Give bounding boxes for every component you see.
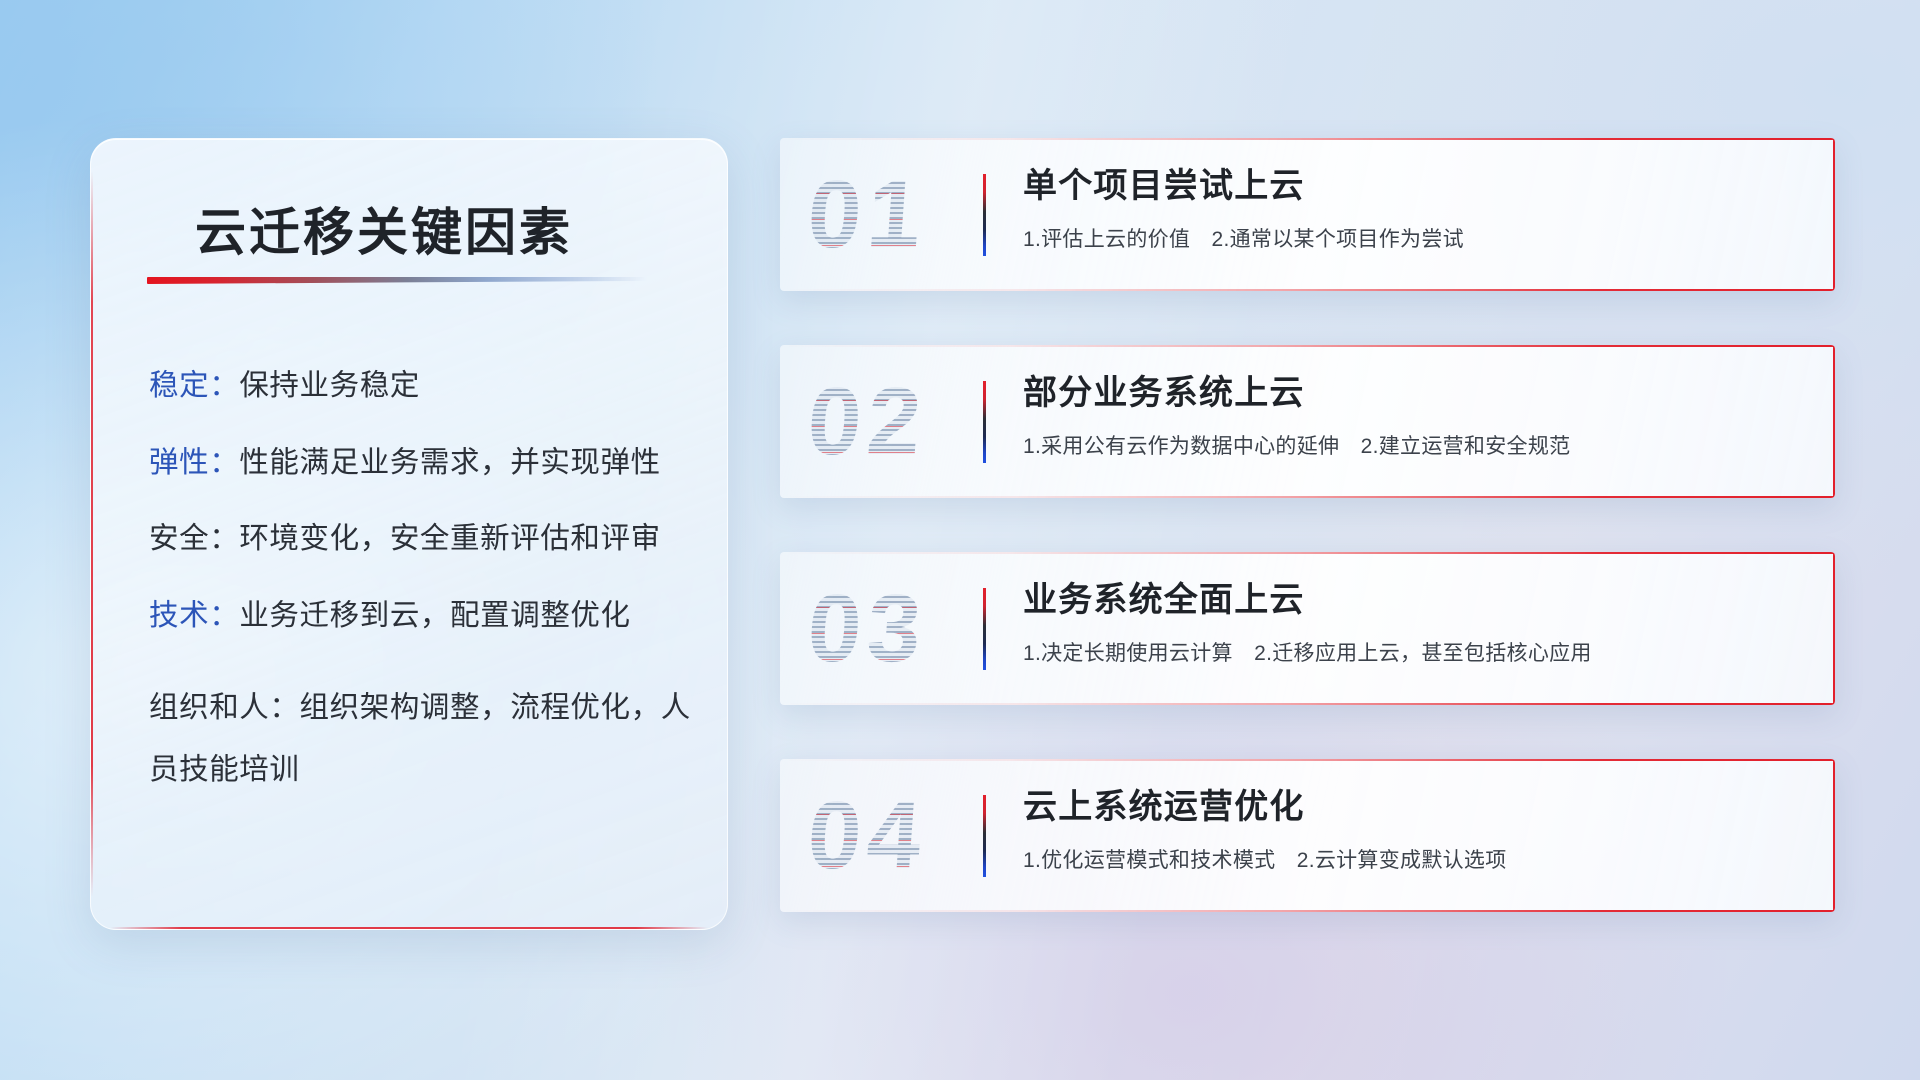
key-factors-list: 稳定：保持业务稳定 弹性：性能满足业务需求，并实现弹性 安全：环境变化，安全重新… xyxy=(149,371,699,848)
card-top-edge xyxy=(780,552,1835,554)
step-text-block: 部分业务系统上云 1.采用公有云作为数据中心的延伸 2.建立运营和安全规范 xyxy=(1023,373,1811,460)
card-right-edge xyxy=(1833,552,1835,705)
step-divider-bar xyxy=(983,381,986,463)
step-card[interactable]: 04 04 04 云上系统运营优化 1.优化运营模式和技术模式 2.云计算变成默… xyxy=(780,759,1835,912)
card-right-edge xyxy=(1833,345,1835,498)
step-subtitle: 1.采用公有云作为数据中心的延伸 2.建立运营和安全规范 xyxy=(1023,430,1811,460)
step-number-red-overlay: 02 xyxy=(805,374,930,470)
factor-label: 稳定： xyxy=(149,369,239,402)
step-text-block: 云上系统运营优化 1.优化运营模式和技术模式 2.云计算变成默认选项 xyxy=(1023,787,1811,874)
factor-label: 弹性： xyxy=(149,446,239,479)
title-underline-gradient xyxy=(147,277,647,284)
step-subtitle: 1.决定长期使用云计算 2.迁移应用上云，甚至包括核心应用 xyxy=(1023,637,1811,667)
step-title: 单个项目尝试上云 xyxy=(1023,166,1811,206)
factor-value: 性能满足业务需求，并实现弹性 xyxy=(239,446,660,479)
card-top-edge xyxy=(780,138,1835,140)
card-bottom-edge xyxy=(780,496,1835,498)
card-top-edge xyxy=(780,759,1835,761)
card-right-edge xyxy=(1833,759,1835,912)
migration-steps-list: 01 01 01 单个项目尝试上云 1.评估上云的价值 2.通常以某个项目作为尝… xyxy=(780,138,1835,912)
card-top-edge xyxy=(780,345,1835,347)
step-card[interactable]: 01 01 01 单个项目尝试上云 1.评估上云的价值 2.通常以某个项目作为尝… xyxy=(780,138,1835,291)
list-item: 稳定：保持业务稳定 xyxy=(149,371,699,401)
card-bottom-edge xyxy=(780,703,1835,705)
card-bottom-accent-bar xyxy=(110,927,708,929)
factor-label: 技术： xyxy=(149,599,239,632)
step-subtitle: 1.评估上云的价值 2.通常以某个项目作为尝试 xyxy=(1023,223,1811,253)
card-bottom-edge xyxy=(780,289,1835,291)
step-divider-bar xyxy=(983,588,986,670)
step-divider-bar xyxy=(983,795,986,877)
step-divider-bar xyxy=(983,174,986,256)
list-item: 组织和人：组织架构调整，流程优化，人员技能培训 xyxy=(149,677,699,801)
list-item: 弹性：性能满足业务需求，并实现弹性 xyxy=(149,448,699,478)
step-number-red-overlay: 04 xyxy=(805,788,930,884)
card-right-edge xyxy=(1833,138,1835,291)
step-subtitle: 1.优化运营模式和技术模式 2.云计算变成默认选项 xyxy=(1023,844,1811,874)
card-bottom-edge xyxy=(780,910,1835,912)
step-title: 业务系统全面上云 xyxy=(1023,580,1811,620)
step-title: 云上系统运营优化 xyxy=(1023,787,1811,827)
step-card[interactable]: 03 03 03 业务系统全面上云 1.决定长期使用云计算 2.迁移应用上云，甚… xyxy=(780,552,1835,705)
step-number-red-overlay: 03 xyxy=(805,581,930,677)
factor-label: 组织和人： xyxy=(149,691,300,724)
step-number-red-overlay: 01 xyxy=(805,167,930,263)
factor-value: 业务迁移到云，配置调整优化 xyxy=(239,599,630,632)
list-item: 技术：业务迁移到云，配置调整优化 xyxy=(149,601,699,631)
step-text-block: 单个项目尝试上云 1.评估上云的价值 2.通常以某个项目作为尝试 xyxy=(1023,166,1811,253)
factor-value: 环境变化，安全重新评估和评审 xyxy=(239,522,660,555)
list-item: 安全：环境变化，安全重新评估和评审 xyxy=(149,524,699,554)
key-factors-card: 云迁移关键因素 稳定：保持业务稳定 弹性：性能满足业务需求，并实现弹性 安全：环… xyxy=(90,138,728,930)
factor-value: 保持业务稳定 xyxy=(239,369,420,402)
card-left-accent-bar xyxy=(91,171,93,898)
page-title: 云迁移关键因素 xyxy=(195,191,573,265)
step-text-block: 业务系统全面上云 1.决定长期使用云计算 2.迁移应用上云，甚至包括核心应用 xyxy=(1023,580,1811,667)
factor-label: 安全： xyxy=(149,522,239,555)
step-card[interactable]: 02 02 02 部分业务系统上云 1.采用公有云作为数据中心的延伸 2.建立运… xyxy=(780,345,1835,498)
step-title: 部分业务系统上云 xyxy=(1023,373,1811,413)
